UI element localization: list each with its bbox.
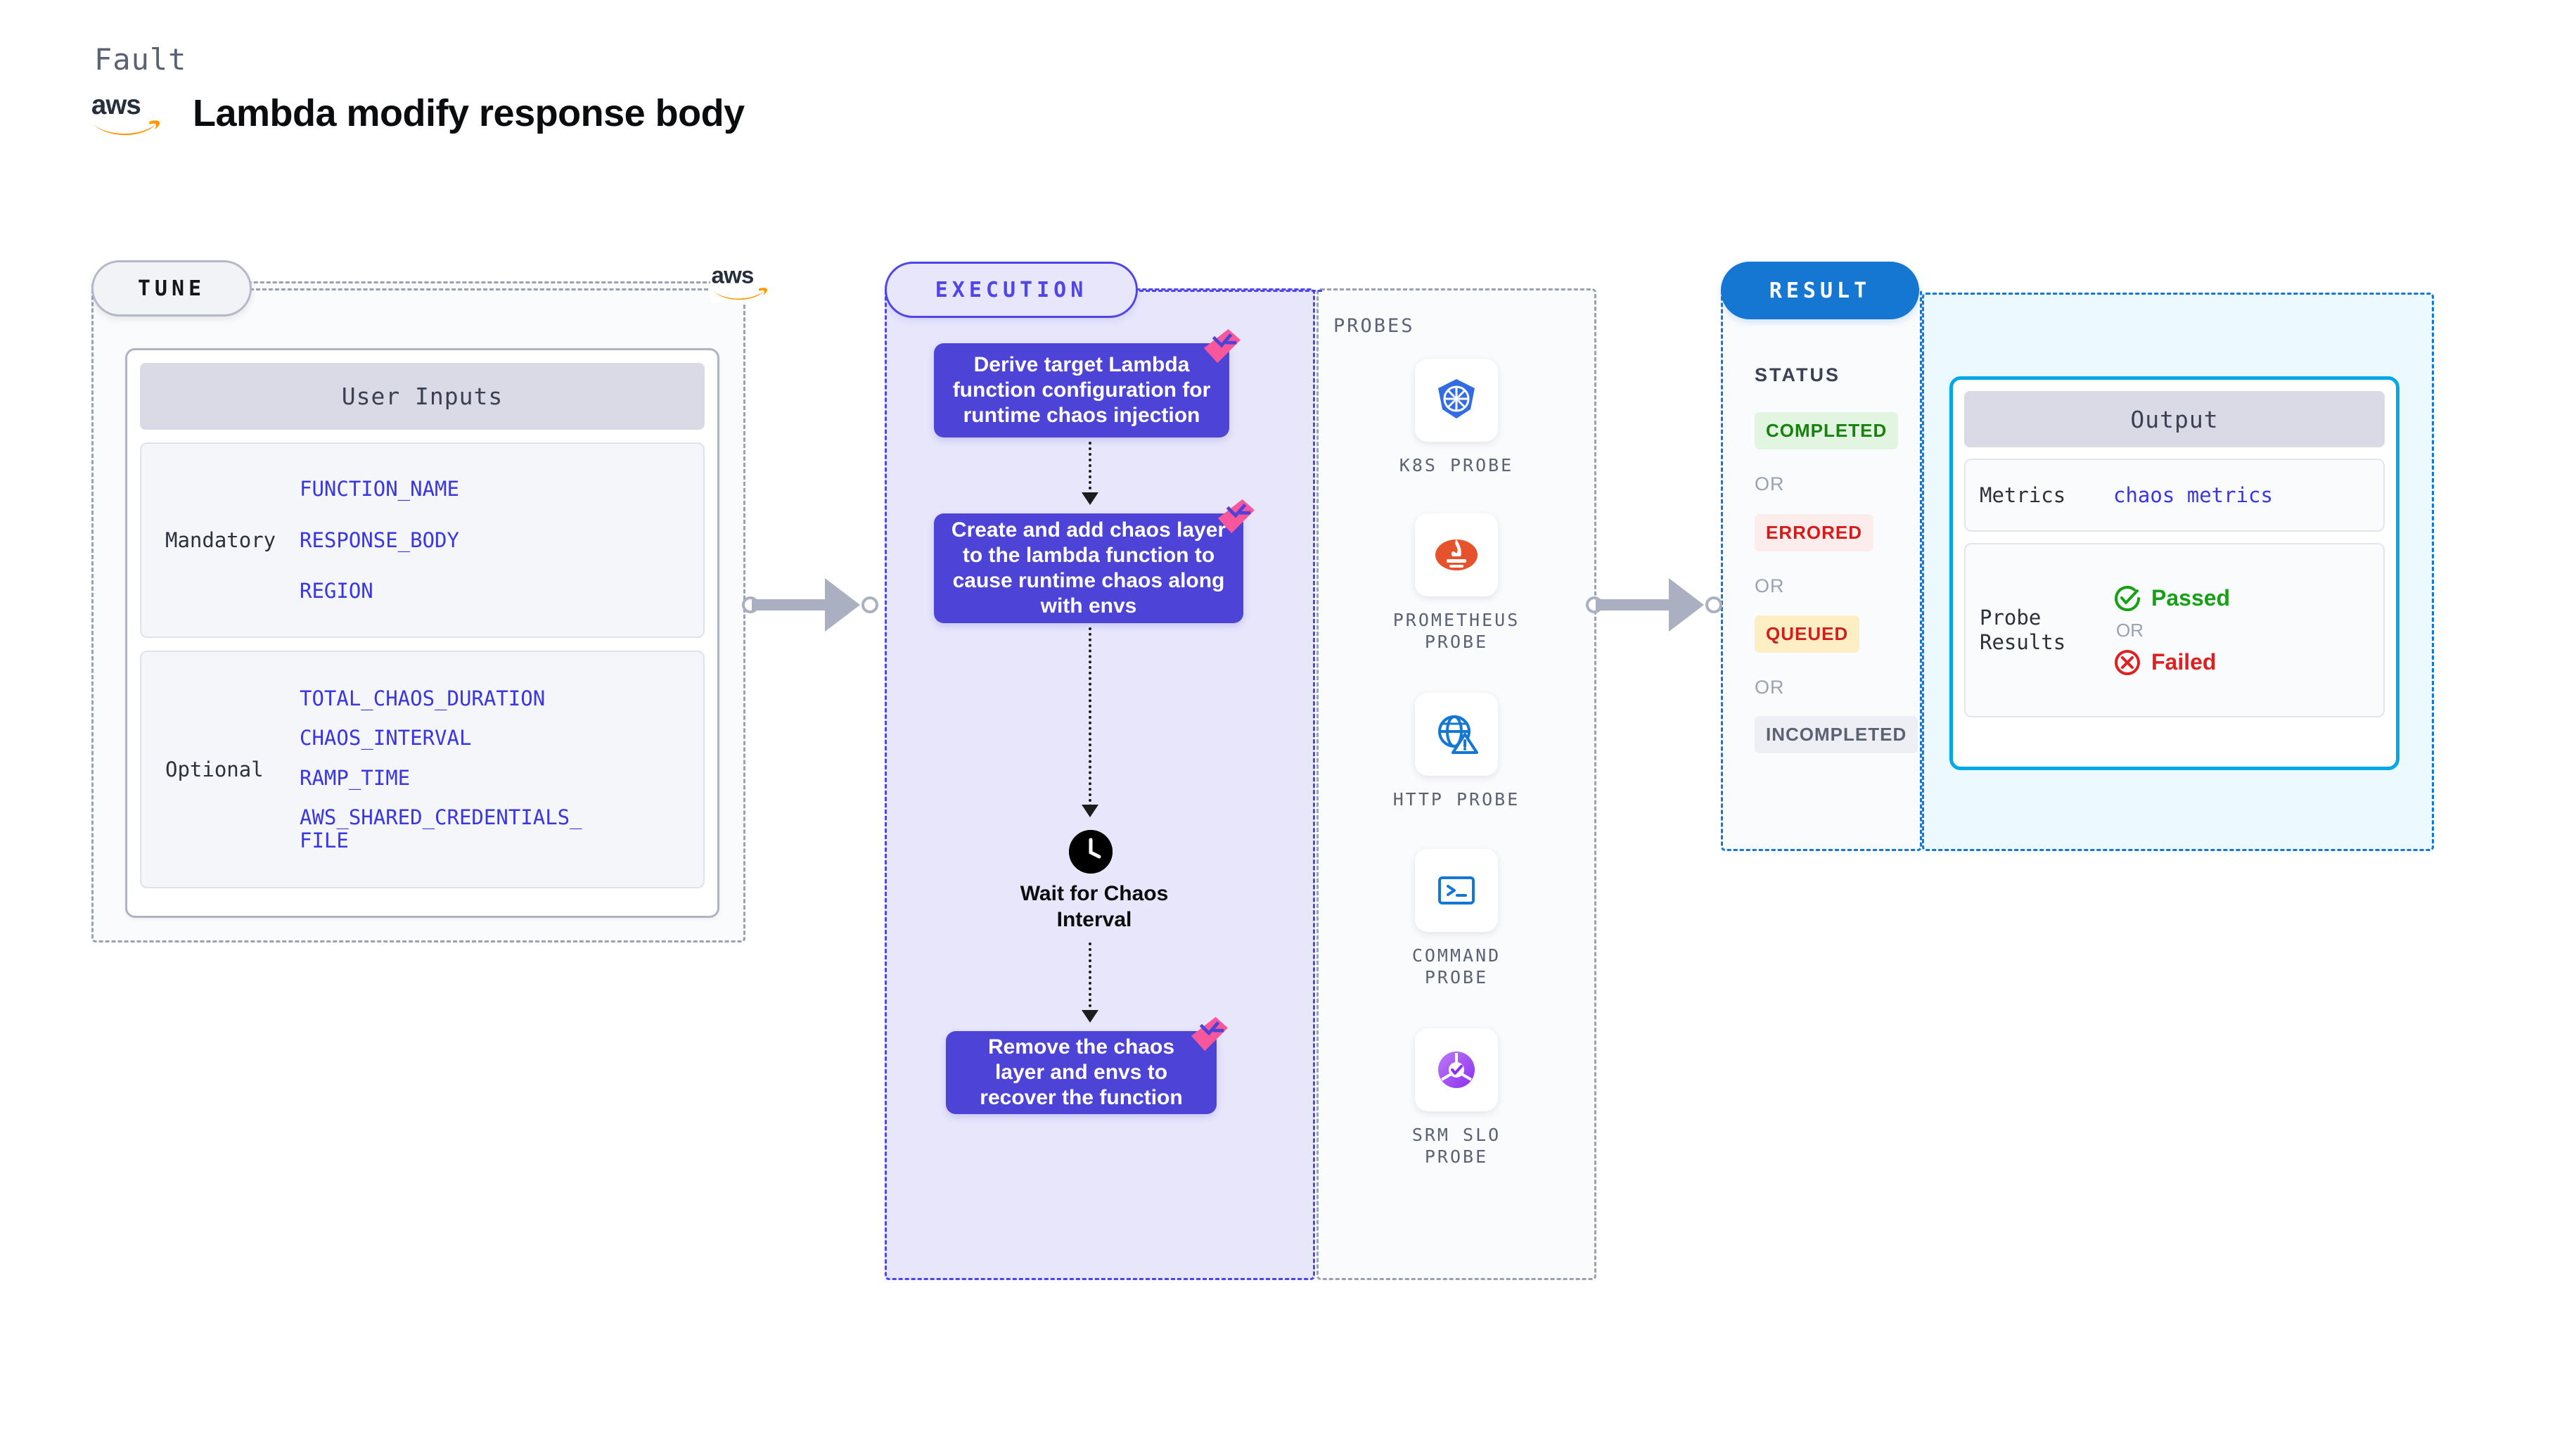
connector-end-dot [1705,596,1722,613]
output-probe-results-key: Probe Results [1980,606,2113,655]
srm-slo-icon [1415,1028,1498,1111]
execution-pill[interactable]: EXECUTION [885,262,1138,318]
param-region[interactable]: REGION [300,580,696,602]
probe-prometheus-label: PROMETHEUS PROBE [1372,609,1541,653]
execution-step-1-label: Derive target Lambda function configurat… [949,352,1214,428]
optional-label: Optional [148,758,300,781]
execution-pill-label: EXECUTION [935,278,1088,302]
param-aws-shared-credentials-file[interactable]: AWS_SHARED_CREDENTIALS_ FILE [300,806,696,852]
tune-dashed-connector [250,288,721,290]
optional-inputs-group: Optional TOTAL_CHAOS_DURATION CHAOS_INTE… [140,651,705,888]
status-or-2: OR [1755,575,1785,597]
execution-arrowhead-2 [1082,805,1098,817]
param-function-name[interactable]: FUNCTION_NAME [300,478,696,500]
status-or-3: OR [1755,677,1785,698]
wait-for-chaos-interval-label: Wait for Chaos Interval [982,881,1207,933]
status-or-1: OR [1755,473,1785,495]
probe-result-failed: Failed [2113,648,2369,677]
status-badge-queued: QUEUED [1755,615,1859,653]
svg-text:aws: aws [91,90,141,120]
page-title: Lambda modify response body [193,91,745,135]
probe-srm-slo[interactable]: SRM SLO PROBE [1372,1028,1541,1168]
param-ramp-time[interactable]: RAMP_TIME [300,767,696,789]
fault-kicker: Fault [94,42,745,77]
param-chaos-interval[interactable]: CHAOS_INTERVAL [300,727,696,749]
execution-step-1[interactable]: Derive target Lambda function configurat… [934,343,1229,437]
param-total-chaos-duration[interactable]: TOTAL_CHAOS_DURATION [300,687,696,710]
execution-step-2-label: Create and add chaos layer to the lambda… [949,518,1228,619]
tune-pill[interactable]: TUNE [91,260,252,317]
status-badge-completed: COMPLETED [1755,412,1898,449]
probe-k8s[interactable]: K8S PROBE [1372,359,1541,476]
probes-title: PROBES [1333,315,1415,337]
param-response-body[interactable]: RESPONSE_BODY [300,529,696,551]
status-badge-incompleted: INCOMPLETED [1755,716,1918,753]
connector-end-dot [861,596,878,613]
clock-icon [1069,830,1113,874]
check-circle-icon [2113,584,2141,613]
execution-dashed-connector [1139,290,1322,292]
probe-result-passed-label: Passed [2151,585,2230,611]
prometheus-icon [1415,513,1498,596]
mandatory-inputs-group: Mandatory FUNCTION_NAME RESPONSE_BODY RE… [140,442,705,638]
page-header: Fault aws Lambda modify response body [90,42,745,139]
tune-pill-label: TUNE [138,276,205,301]
probe-result-or: OR [2116,620,2369,641]
execution-arrowhead-1 [1082,492,1098,505]
probe-srm-slo-label: SRM SLO PROBE [1372,1124,1541,1168]
kubernetes-icon [1415,359,1498,442]
output-probe-results-row: Probe Results Passed OR Failed [1964,543,2385,717]
probe-result-passed: Passed [2113,584,2369,613]
aws-logo: aws [90,88,167,139]
status-title: STATUS [1755,364,1840,386]
connector-arrowhead [1669,578,1704,632]
result-pill[interactable]: RESULT [1721,262,1919,319]
connector-arrowhead [825,578,860,632]
output-metrics-value[interactable]: chaos metrics [2113,483,2369,507]
probe-http[interactable]: HTTP PROBE [1372,693,1541,810]
optional-params: TOTAL_CHAOS_DURATION CHAOS_INTERVAL RAMP… [300,679,696,860]
terminal-icon [1415,849,1498,932]
execution-step-final-label: Remove the chaos layer and envs to recov… [961,1035,1201,1111]
execution-arrowhead-3 [1082,1010,1098,1023]
execution-step-2[interactable]: Create and add chaos layer to the lambda… [934,513,1243,623]
x-circle-icon [2113,648,2141,677]
connector-tune-to-execution [742,577,883,633]
probe-k8s-label: K8S PROBE [1372,454,1541,476]
probe-prometheus[interactable]: PROMETHEUS PROBE [1372,513,1541,653]
probe-command-label: COMMAND PROBE [1372,945,1541,989]
output-card: Output Metrics chaos metrics Probe Resul… [1949,376,2399,770]
execution-arrow-1 [1089,442,1091,495]
probe-result-failed-label: Failed [2151,649,2216,675]
status-badge-errored: ERRORED [1755,514,1873,551]
user-inputs-title: User Inputs [140,363,705,430]
mandatory-label: Mandatory [148,528,300,552]
connector-execution-to-result [1586,577,1726,633]
user-inputs-card: User Inputs Mandatory FUNCTION_NAME RESP… [125,348,719,918]
execution-step-final[interactable]: Remove the chaos layer and envs to recov… [946,1031,1217,1114]
aws-logo-tune-icon: aws [710,260,774,302]
probe-command[interactable]: COMMAND PROBE [1372,849,1541,989]
result-pill-label: RESULT [1769,279,1871,303]
output-metrics-row: Metrics chaos metrics [1964,459,2385,532]
probe-http-label: HTTP PROBE [1372,788,1541,810]
output-title: Output [1964,391,2385,447]
execution-arrow-3 [1089,942,1091,1013]
execution-arrow-2 [1089,627,1091,807]
mandatory-params: FUNCTION_NAME RESPONSE_BODY REGION [300,464,696,616]
svg-text:aws: aws [712,262,754,288]
output-metrics-key: Metrics [1980,483,2113,508]
http-globe-icon [1415,693,1498,776]
title-row: aws Lambda modify response body [90,88,745,139]
